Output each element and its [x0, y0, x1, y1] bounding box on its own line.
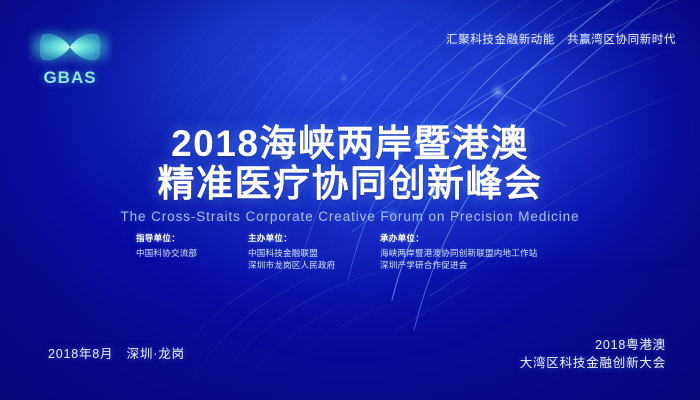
footer-date-location: 2018年8月 深圳·龙岗 [48, 343, 185, 362]
organizer-entry: 深圳产学研合作促进会 [380, 259, 596, 271]
tagline: 汇聚科技金融新动能 共赢湾区协同新时代 [446, 31, 676, 47]
organizer-heading: 主办单位： [248, 232, 380, 244]
organizer-column-undertaker: 承办单位： 海峡两岸暨港澳协同创新联盟内地工作站 深圳产学研合作促进会 [380, 232, 596, 271]
title-line-2: 精准医疗协同创新峰会 [0, 164, 700, 204]
title-block: 2018海峡两岸暨港澳 精准医疗协同创新峰会 The Cross-Straits… [0, 124, 700, 224]
organizer-entry: 海峡两岸暨港澳协同创新联盟内地工作站 [380, 247, 596, 259]
organizer-entry: 中国科技金融联盟 [248, 247, 380, 259]
organizer-heading: 指导单位： [136, 232, 248, 244]
subtitle-english: The Cross-Straits Corporate Creative For… [0, 209, 700, 224]
footer-event-line-1: 2018粤港澳 [520, 336, 666, 354]
footer-event-line-2: 大湾区科技金融创新大会 [520, 354, 666, 372]
gbas-infinity-mark [40, 32, 100, 62]
logo-text: GBAS [30, 68, 110, 88]
organizer-section: 指导单位： 中国科协交流部 主办单位： 中国科技金融联盟 深圳市龙岗区人民政府 … [136, 232, 596, 271]
title-line-1: 2018海峡两岸暨港澳 [0, 124, 700, 164]
footer-event-series: 2018粤港澳 大湾区科技金融创新大会 [520, 336, 666, 372]
organizer-entry: 中国科协交流部 [136, 247, 248, 259]
conference-poster: GBAS 汇聚科技金融新动能 共赢湾区协同新时代 2018海峡两岸暨港澳 精准医… [0, 0, 700, 400]
organizer-heading: 承办单位： [380, 232, 596, 244]
gbas-logo[interactable]: GBAS [30, 24, 110, 94]
organizer-column-host: 主办单位： 中国科技金融联盟 深圳市龙岗区人民政府 [248, 232, 380, 271]
organizer-column-guidance: 指导单位： 中国科协交流部 [136, 232, 248, 271]
organizer-entry: 深圳市龙岗区人民政府 [248, 259, 380, 271]
